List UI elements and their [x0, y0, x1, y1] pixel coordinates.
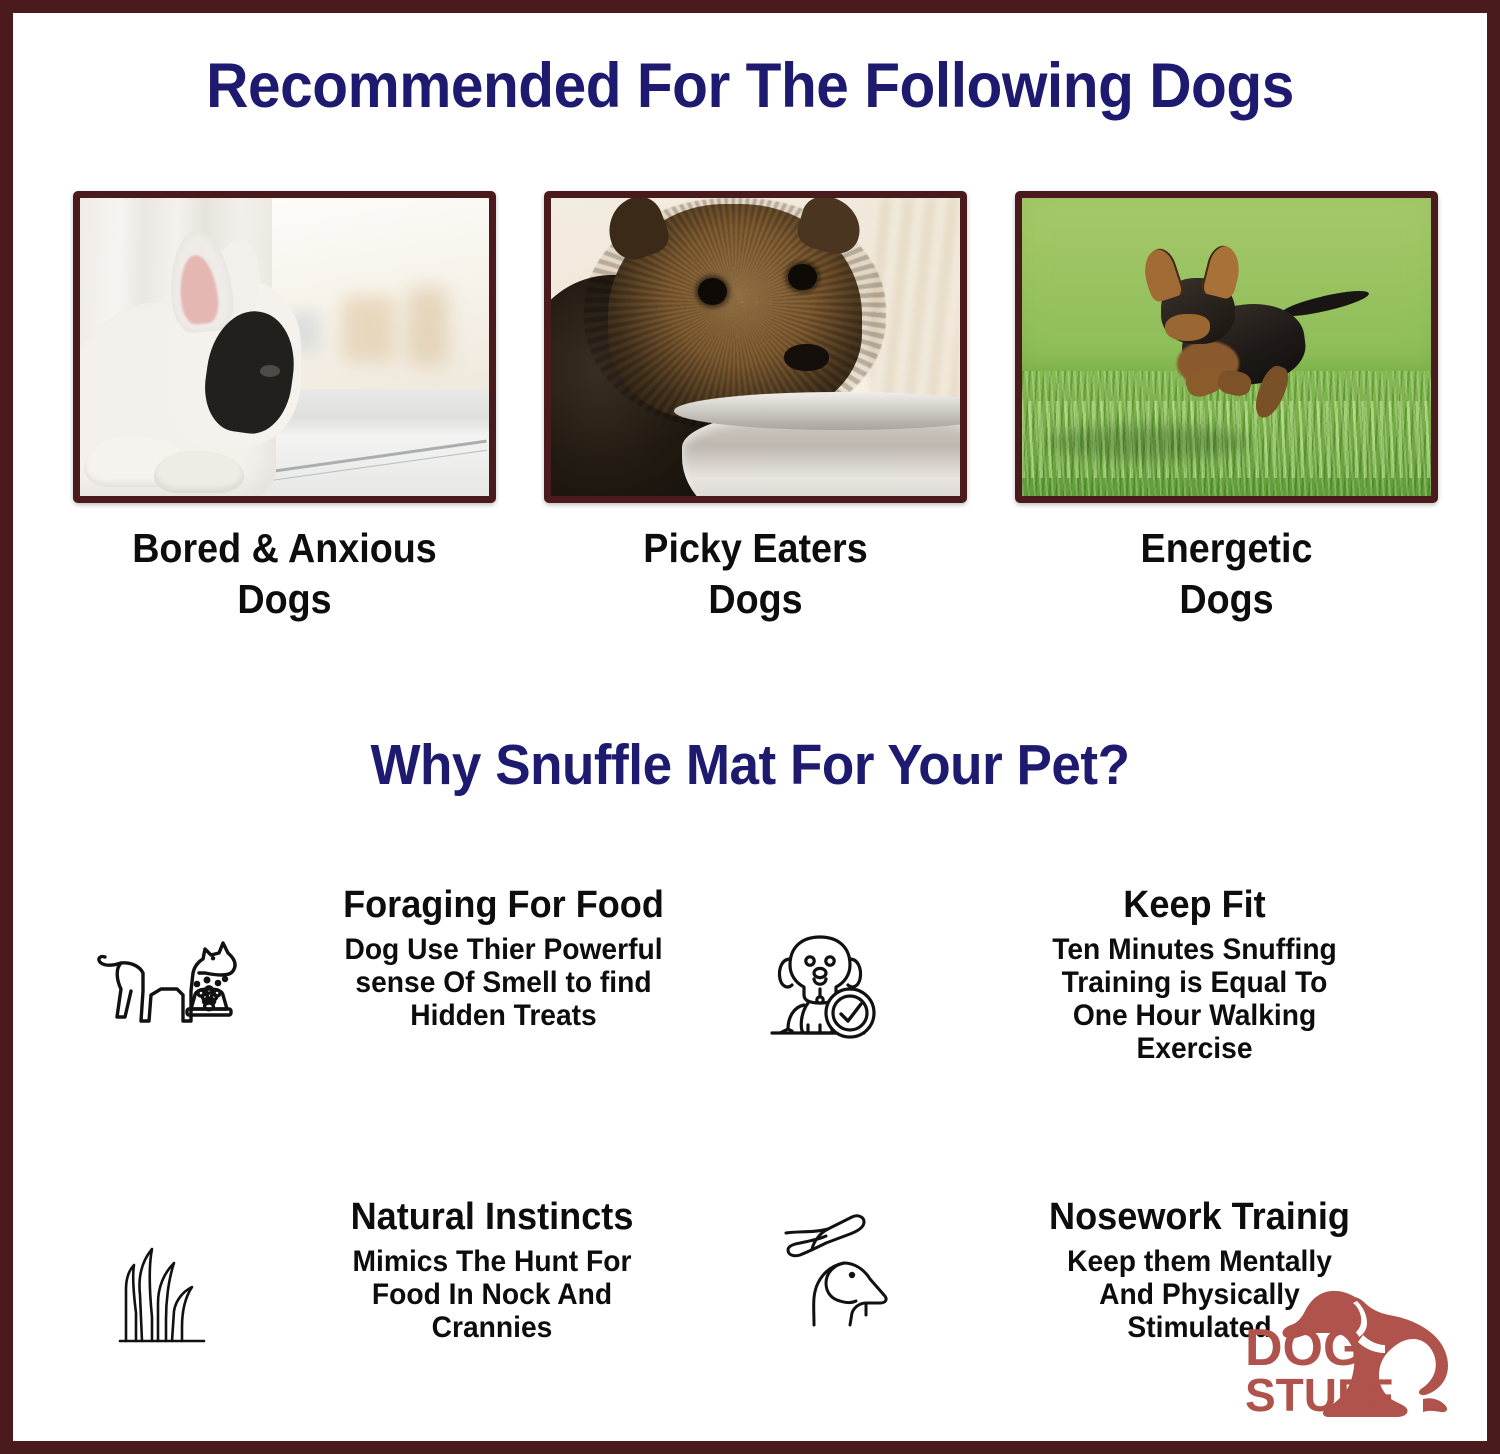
hand-pointing-dog-head-icon [780, 1203, 912, 1338]
feature-keep-fit: Keep Fit Ten Minutes Snuffing Training i… [750, 883, 1487, 1065]
feature-description: Ten Minutes Snuffing Training is Equal T… [920, 933, 1470, 1065]
section-title-why-snuffle-mat: Why Snuffle Mat For Your Pet? [65, 733, 1436, 797]
feature-title: Natural Instincts [247, 1195, 737, 1239]
feature-description: Dog Use Thier Powerful sense Of Smell to… [272, 933, 735, 1032]
feature-text-foraging: Foraging For Food Dog Use Thier Powerful… [257, 883, 750, 1032]
feature-foraging-for-food: Foraging For Food Dog Use Thier Powerful… [13, 883, 750, 1065]
desc-line-3: Crannies [249, 1311, 734, 1344]
feature-title: Keep Fit [917, 883, 1473, 927]
infographic-canvas: Recommended For The Following Dogs [13, 13, 1487, 1441]
caption-line-2: Dogs [90, 574, 479, 625]
photo-caption-picky: Picky Eaters Dogs [561, 523, 950, 625]
logo-text-line-2: STUFF [1245, 1369, 1393, 1421]
infographic-page: Recommended For The Following Dogs [0, 0, 1500, 1454]
desc-line-2: Food In Nock And [249, 1278, 734, 1311]
caption-line-2: Dogs [561, 574, 950, 625]
desc-line-2: Training is Equal To [920, 966, 1470, 999]
desc-line-2: sense Of Smell to find [272, 966, 735, 999]
caption-line-1: Energetic [1032, 523, 1421, 574]
photo-frame-picky [544, 191, 967, 503]
photo-bored-dog-icon [80, 198, 489, 496]
desc-line-1: Dog Use Thier Powerful [272, 933, 735, 966]
photo-frame-bored [73, 191, 496, 503]
desc-line-1: Mimics The Hunt For [249, 1245, 734, 1278]
sitting-dog-checkmark-icon [768, 929, 892, 1052]
photo-picky-eater-dog-icon [551, 198, 960, 496]
photo-caption-bored: Bored & Anxious Dogs [90, 523, 479, 625]
desc-line-3: Hidden Treats [272, 999, 735, 1032]
desc-line-1: Ten Minutes Snuffing [920, 933, 1470, 966]
photo-energetic-dog-icon [1022, 198, 1431, 496]
photo-caption-energetic: Energetic Dogs [1032, 523, 1421, 625]
photo-frame-energetic [1015, 191, 1438, 503]
feature-text-keep-fit: Keep Fit Ten Minutes Snuffing Training i… [902, 883, 1487, 1065]
desc-line-3: One Hour Walking [920, 999, 1470, 1032]
feature-text-natural-instincts: Natural Instincts Mimics The Hunt For Fo… [234, 1195, 750, 1344]
dog-and-food-bowl-icon [91, 929, 251, 1042]
caption-line-2: Dogs [1032, 574, 1421, 625]
feature-description: Mimics The Hunt For Food In Nock And Cra… [249, 1245, 734, 1344]
feature-title: Foraging For Food [269, 883, 737, 927]
recommended-card-picky: Picky Eaters Dogs [544, 191, 967, 625]
sitting-dog-silhouette-icon: DOG STUFF [1237, 1279, 1452, 1429]
caption-line-1: Picky Eaters [561, 523, 950, 574]
desc-line-4: Exercise [920, 1032, 1470, 1065]
grass-tuft-icon [108, 1243, 220, 1358]
feature-title: Nosework Trainig [926, 1195, 1472, 1239]
brand-logo: DOG STUFF [1237, 1279, 1452, 1429]
caption-line-1: Bored & Anxious [90, 523, 479, 574]
feature-natural-instincts: Natural Instincts Mimics The Hunt For Fo… [13, 1195, 750, 1358]
recommended-dogs-row: Bored & Anxious Dogs [73, 191, 1438, 625]
page-title: Recommended For The Following Dogs [65, 51, 1436, 121]
features-row-top: Foraging For Food Dog Use Thier Powerful… [13, 883, 1487, 1065]
recommended-card-bored: Bored & Anxious Dogs [73, 191, 496, 625]
desc-line-1: Keep them Mentally [929, 1245, 1470, 1278]
recommended-card-energetic: Energetic Dogs [1015, 191, 1438, 625]
